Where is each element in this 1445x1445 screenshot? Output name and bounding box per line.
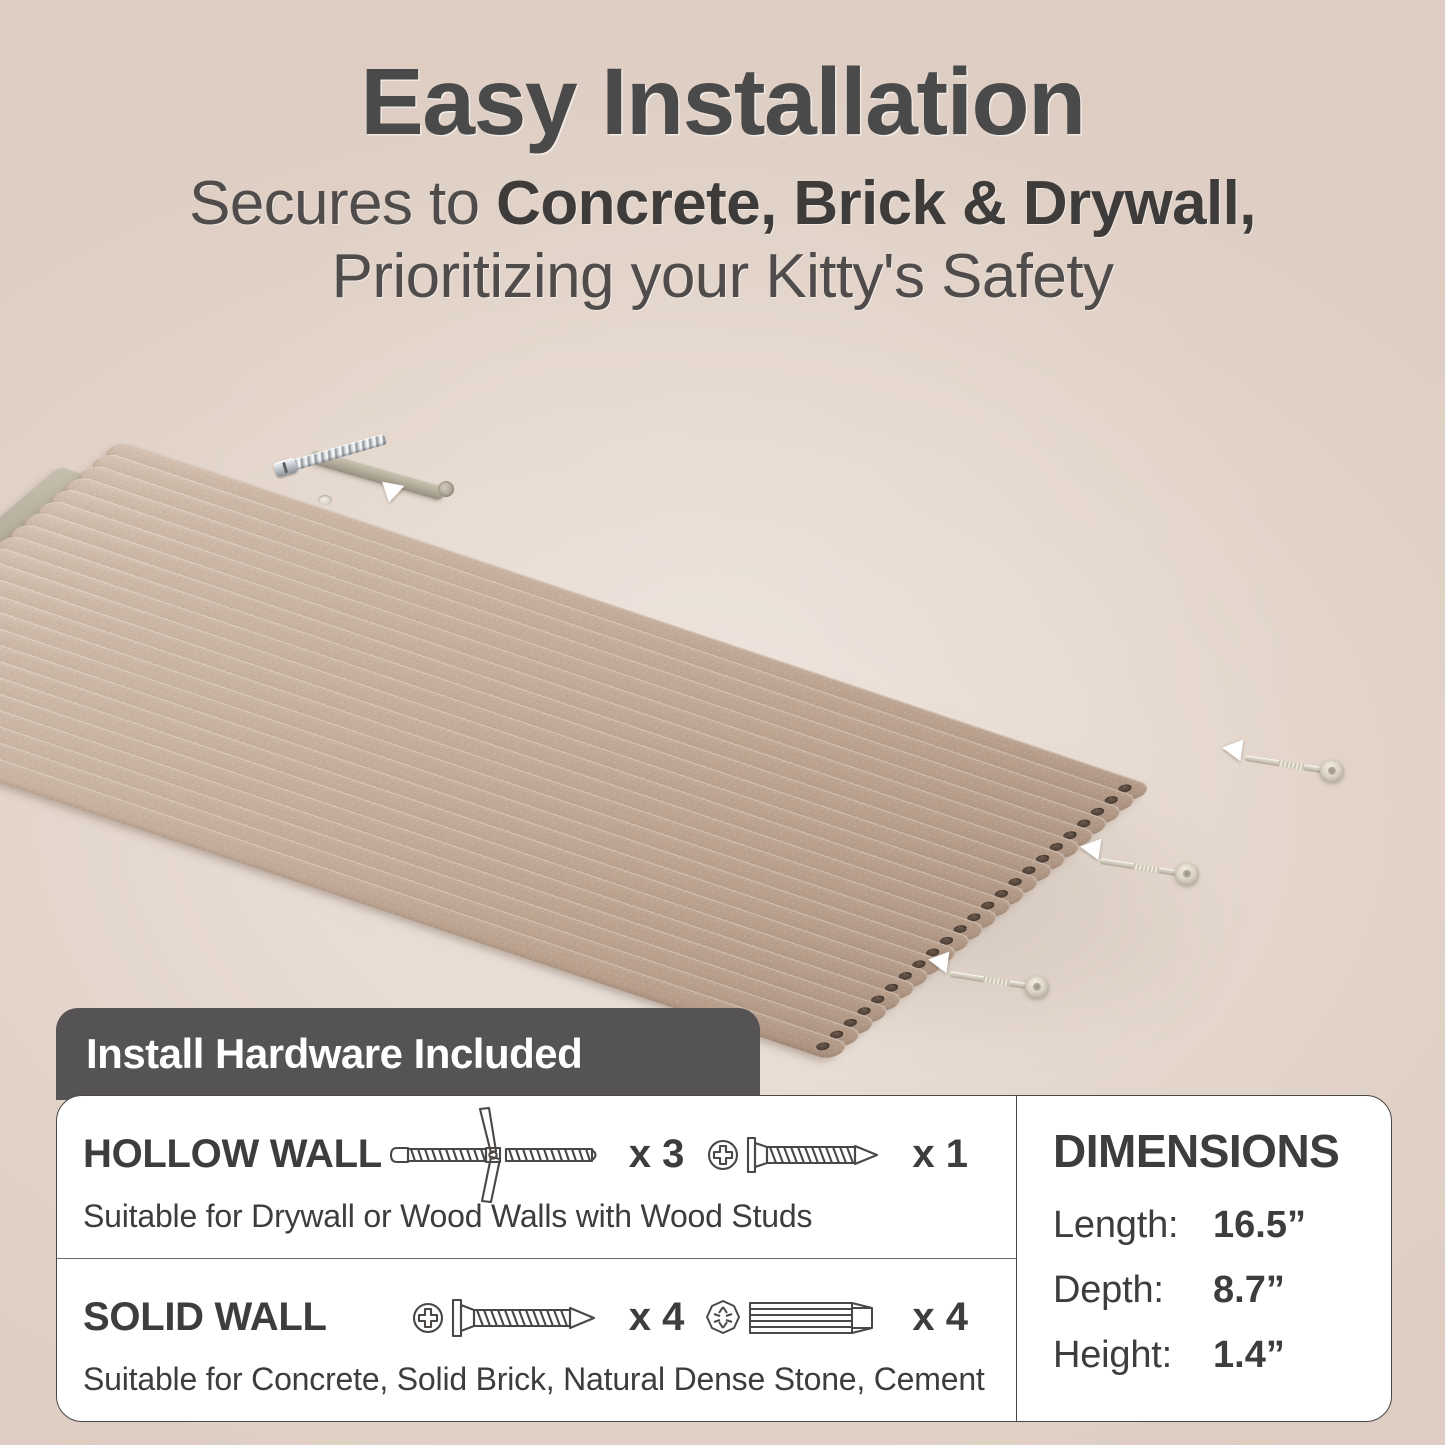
- hardware-item: x 1: [706, 1124, 990, 1186]
- dimensions-title: DIMENSIONS: [1053, 1124, 1391, 1178]
- subtitle-line-2: Prioritizing your Kitty's Safety: [0, 240, 1445, 313]
- dimension-value: 16.5”: [1213, 1204, 1306, 1247]
- hardware-row-label: HOLLOW WALL: [83, 1132, 382, 1177]
- hardware-badge-label: Install Hardware Included: [86, 1030, 582, 1078]
- dimensions-column: DIMENSIONS Length: 16.5” Depth: 8.7” Hei…: [1017, 1096, 1391, 1421]
- hardware-row-description: Suitable for Drywall or Wood Walls with …: [83, 1198, 990, 1235]
- wall-anchor-icon: [706, 1287, 902, 1349]
- dimension-row-depth: Depth: 8.7”: [1053, 1269, 1391, 1312]
- dimension-key: Depth:: [1053, 1269, 1203, 1312]
- subtitle-prefix: Secures to: [189, 169, 496, 238]
- hardware-column: HOLLOW WALL: [57, 1096, 1017, 1421]
- dimension-row-length: Length: 16.5”: [1053, 1204, 1391, 1247]
- product-illustration: [0, 400, 1445, 1040]
- info-panel: Install Hardware Included HOLLOW WALL: [56, 1008, 1392, 1422]
- panel-row: HOLLOW WALL: [56, 1095, 1392, 1422]
- header-block: Easy Installation Secures to Concrete, B…: [0, 0, 1445, 313]
- hardware-row-hollow-wall: HOLLOW WALL: [57, 1096, 1016, 1258]
- hardware-row-label: SOLID WALL: [83, 1295, 327, 1340]
- hardware-item-qty: x 4: [629, 1295, 685, 1340]
- callout-arrow: [927, 949, 950, 974]
- dimension-key: Length:: [1053, 1204, 1203, 1247]
- hardware-row-top: HOLLOW WALL: [83, 1124, 990, 1186]
- dimension-key: Height:: [1053, 1334, 1203, 1377]
- hardware-item: x 3: [387, 1107, 707, 1203]
- hardware-items: x 4: [411, 1287, 990, 1349]
- subtitle-strong: Concrete, Brick & Drywall,: [496, 169, 1256, 238]
- hardware-badge: Install Hardware Included: [56, 1008, 760, 1100]
- hardware-row-solid-wall: SOLID WALL: [57, 1258, 1016, 1421]
- dimension-value: 1.4”: [1213, 1334, 1285, 1377]
- hardware-item-qty: x 1: [912, 1132, 968, 1177]
- hardware-row-top: SOLID WALL: [83, 1287, 990, 1349]
- dimension-row-height: Height: 1.4”: [1053, 1334, 1391, 1377]
- dimension-value: 8.7”: [1213, 1269, 1285, 1312]
- subtitle-line-1: Secures to Concrete, Brick & Drywall,: [0, 167, 1445, 240]
- phillips-screw-icon: [411, 1287, 619, 1349]
- hardware-items: x 3: [387, 1107, 990, 1203]
- callout-arrow: [1221, 737, 1244, 762]
- hardware-item-qty: x 4: [912, 1295, 968, 1340]
- hardware-item: x 4: [411, 1287, 707, 1349]
- hardware-row-description: Suitable for Concrete, Solid Brick, Natu…: [83, 1361, 990, 1398]
- shelf-body: [120, 440, 1350, 1000]
- phillips-screw-icon: [706, 1124, 902, 1186]
- hardware-item: x 4: [706, 1287, 990, 1349]
- toggle-bolt-icon: [387, 1107, 619, 1203]
- page-title: Easy Installation: [0, 52, 1445, 153]
- hardware-item-qty: x 3: [629, 1132, 685, 1177]
- callout-arrow: [1079, 836, 1102, 861]
